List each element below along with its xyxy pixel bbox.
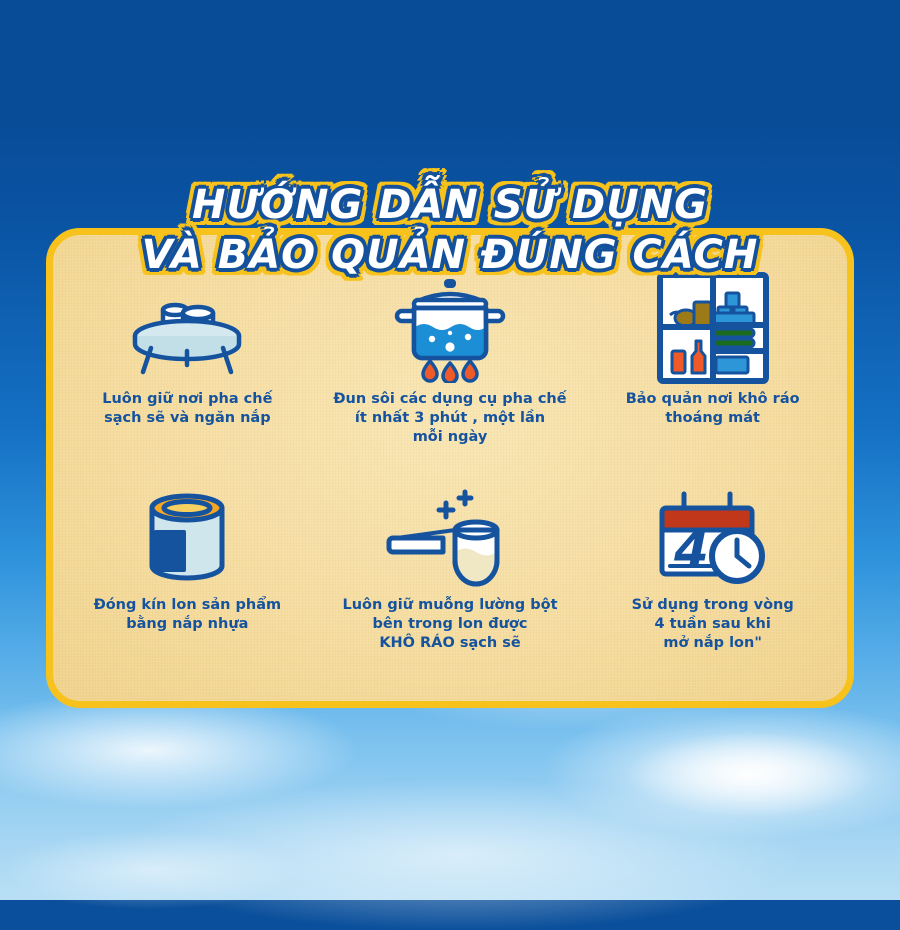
title-line-1: HƯỚNG DẪN SỬ DỤNG xyxy=(0,182,900,228)
cloud-shape xyxy=(120,780,800,930)
tip-caption: Đun sôi các dụng cụ pha chế ít nhất 3 ph… xyxy=(333,390,566,447)
tip-item: Đun sôi các dụng cụ pha chế ít nhất 3 ph… xyxy=(319,272,582,486)
tip-item: Đóng kín lon sản phẩm bằng nắp nhựa xyxy=(56,486,319,700)
page-title: HƯỚNG DẪN SỬ DỤNG VÀ BẢO QUẢN ĐÚNG CÁCH xyxy=(0,182,900,278)
tip-item: 4 Sử dụng trong vòng 4 tuần sau khi mở n… xyxy=(581,486,844,700)
title-line-2: VÀ BẢO QUẢN ĐÚNG CÁCH xyxy=(0,232,900,278)
tip-caption: Luôn giữ nơi pha chế sạch sẽ và ngăn nắp xyxy=(102,390,272,428)
cloud-shape xyxy=(0,690,360,810)
tip-item: Bảo quản nơi khô ráo thoáng mát xyxy=(581,272,844,486)
cloud-shape xyxy=(540,700,900,840)
tip-caption: Bảo quản nơi khô ráo thoáng mát xyxy=(626,390,800,428)
tip-item: Luôn giữ muỗng lường bột bên trong lon đ… xyxy=(319,486,582,700)
measuring-scoop-icon xyxy=(383,486,517,590)
table-with-bowls-icon xyxy=(125,272,249,384)
sealed-can-icon xyxy=(132,486,242,590)
tip-caption: Luôn giữ muỗng lường bột bên trong lon đ… xyxy=(342,596,557,653)
cloud-shape xyxy=(0,830,300,910)
tips-grid: Luôn giữ nơi pha chế sạch sẽ và ngăn nắp xyxy=(56,272,844,700)
tip-caption: Sử dụng trong vòng 4 tuần sau khi mở nắp… xyxy=(632,596,794,653)
tip-caption: Đóng kín lon sản phẩm bằng nắp nhựa xyxy=(94,596,282,634)
cloud-shape xyxy=(620,730,880,820)
boiling-pot-icon xyxy=(388,272,512,384)
tip-item: Luôn giữ nơi pha chế sạch sẽ và ngăn nắp xyxy=(56,272,319,486)
calendar-clock-icon: 4 xyxy=(652,486,774,590)
sparkle-icon xyxy=(439,492,471,517)
calendar-day-number: 4 xyxy=(673,521,709,579)
storage-shelf-icon xyxy=(654,272,772,384)
